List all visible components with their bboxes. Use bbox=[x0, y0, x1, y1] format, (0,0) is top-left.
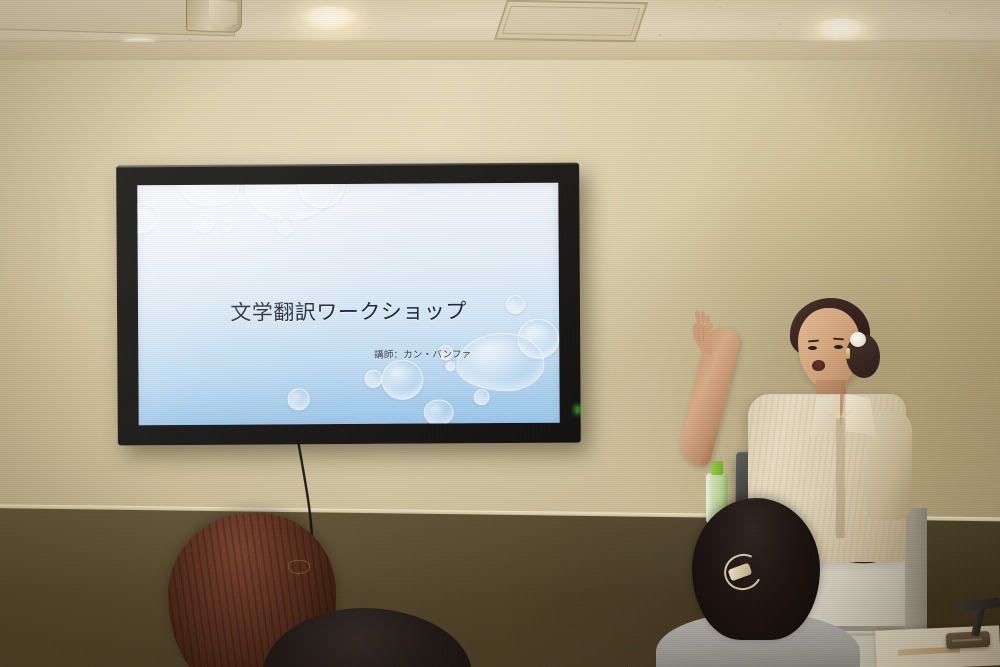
droplet-decoration bbox=[179, 183, 239, 207]
droplet-decoration bbox=[445, 361, 455, 371]
presenter-eye bbox=[808, 346, 817, 350]
eyeglasses-icon bbox=[288, 560, 310, 574]
hair-accessory-icon bbox=[850, 332, 866, 347]
slide-title: 文学翻訳ワークショップ bbox=[138, 295, 559, 328]
presenter-hand-icon bbox=[684, 308, 718, 354]
droplet-decoration bbox=[288, 388, 310, 410]
hair-clip-icon bbox=[724, 554, 758, 588]
power-led-icon bbox=[576, 407, 580, 413]
droplet-decoration bbox=[221, 221, 232, 232]
droplet-decoration bbox=[381, 360, 423, 400]
droplet-decoration bbox=[195, 215, 213, 233]
ceiling-duct-icon bbox=[186, 0, 242, 33]
droplet-decoration bbox=[456, 333, 544, 392]
ceiling-access-hatch bbox=[494, 0, 648, 42]
ceiling bbox=[0, 0, 1000, 64]
presenter-eye bbox=[834, 345, 843, 349]
presentation-display[interactable]: 文学翻訳ワークショップ 講師：カン・バンファ bbox=[116, 163, 581, 446]
earring-icon bbox=[846, 348, 850, 359]
shirt-placket bbox=[836, 418, 845, 538]
droplet-decoration bbox=[276, 216, 295, 235]
necklace-icon bbox=[823, 394, 853, 417]
droplet-decoration bbox=[474, 389, 490, 405]
downlight-icon bbox=[298, 6, 360, 32]
hand-gesture-icon bbox=[684, 308, 718, 354]
droplet-decoration bbox=[424, 399, 454, 425]
droplet-decoration bbox=[364, 370, 382, 388]
slide-subtitle: 講師：カン・バンファ bbox=[374, 346, 471, 361]
droplet-decoration bbox=[137, 203, 159, 233]
downlight-icon bbox=[812, 18, 870, 42]
slide-canvas: 文学翻訳ワークショップ 講師：カン・バンファ bbox=[137, 183, 559, 426]
lecture-room-photo: 文学翻訳ワークショップ 講師：カン・バンファ gram bbox=[0, 0, 1000, 667]
tablet-stand-icon bbox=[958, 600, 1000, 636]
stand-leg bbox=[971, 608, 985, 636]
